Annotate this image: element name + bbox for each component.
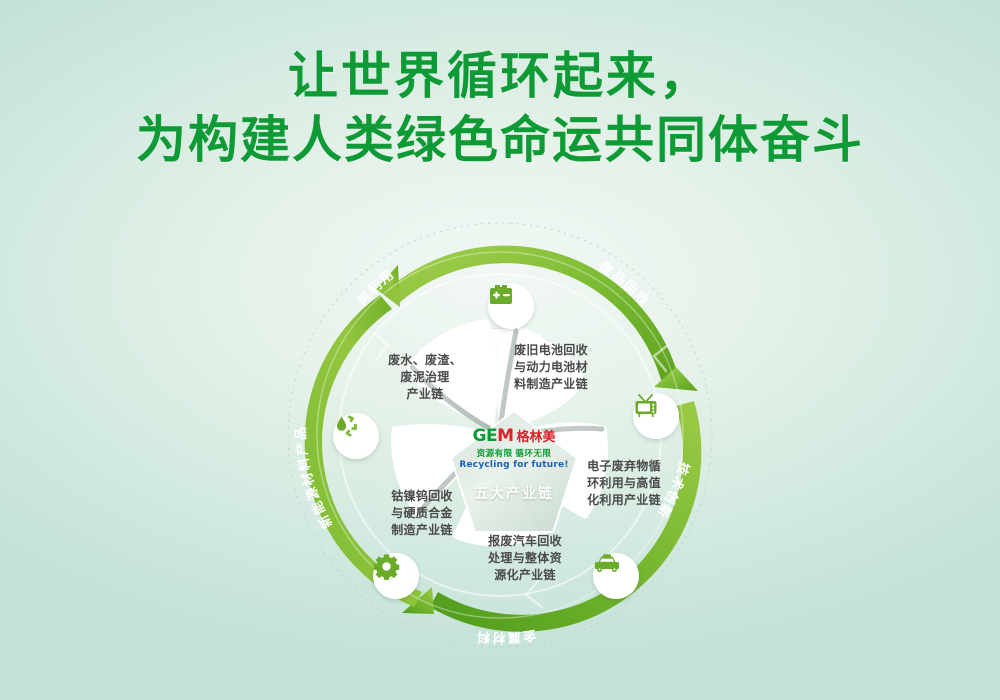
logo-chinese-name: 格林美 — [516, 430, 555, 443]
logo-slogan-en: Recycling for future! — [455, 460, 573, 470]
water-recycle-icon-bubble[interactable] — [333, 413, 379, 459]
petal-label-battery-line1: 废旧电池回收 — [498, 342, 604, 359]
petal-label-battery-line2: 与动力电池材 — [498, 359, 604, 376]
petal-label-battery-line3: 料制造产业链 — [498, 376, 604, 393]
logo-wordmark: GEM 格林美 — [455, 428, 573, 445]
petal-label-battery: 废旧电池回收 与动力电池材 料制造产业链 — [498, 342, 604, 393]
center-subtitle: 五大产业链 — [455, 483, 573, 503]
gear-icon-bubble[interactable] — [373, 553, 419, 599]
car-icon-bubble[interactable] — [593, 553, 639, 599]
logo-slogan-cn: 资源有限 循环无限 — [455, 447, 573, 459]
petal-label-car-line2: 处理与整体资 — [470, 550, 580, 567]
battery-icon-bubble[interactable] — [488, 283, 534, 329]
petal-label-water-line3: 产业链 — [375, 386, 475, 403]
logo-gem-text: GEM — [472, 428, 513, 445]
petal-label-water-line1: 废水、废渣、 — [375, 352, 475, 369]
page-title: 让世界循环起来， 为构建人类绿色命运共同体奋斗 — [0, 44, 1000, 172]
petal-label-ewaste: 电子废弃物循 环利用与高值 化利用产业链 — [575, 458, 673, 509]
petal-label-car: 报废汽车回收 处理与整体资 源化产业链 — [470, 533, 580, 584]
title-line-1: 让世界循环起来， — [0, 44, 1000, 108]
tv-icon-bubble[interactable] — [633, 393, 679, 439]
petal-label-metal-line2: 与硬质合金 — [372, 505, 472, 522]
petal-label-ewaste-line1: 电子废弃物循 — [575, 458, 673, 475]
petal-label-water-line2: 废泥治理 — [375, 369, 475, 386]
title-line-2: 为构建人类绿色命运共同体奋斗 — [0, 108, 1000, 172]
petal-label-car-line1: 报废汽车回收 — [470, 533, 580, 550]
poster-canvas: 让世界循环起来， 为构建人类绿色命运共同体奋斗 — [0, 0, 1000, 700]
cycle-diagram: 废品回收 再利用 技术创新 金属材料 新能源材料产品 废旧电池回收 与动力电池材… — [280, 215, 720, 675]
gem-logo: GEM 格林美 资源有限 循环无限 Recycling for future! — [455, 428, 573, 470]
petal-label-ewaste-line3: 化利用产业链 — [575, 492, 673, 509]
petal-label-ewaste-line2: 环利用与高值 — [575, 475, 673, 492]
petal-label-metal-line3: 制造产业链 — [372, 522, 472, 539]
petal-label-car-line3: 源化产业链 — [470, 567, 580, 584]
petal-label-water: 废水、废渣、 废泥治理 产业链 — [375, 352, 475, 403]
